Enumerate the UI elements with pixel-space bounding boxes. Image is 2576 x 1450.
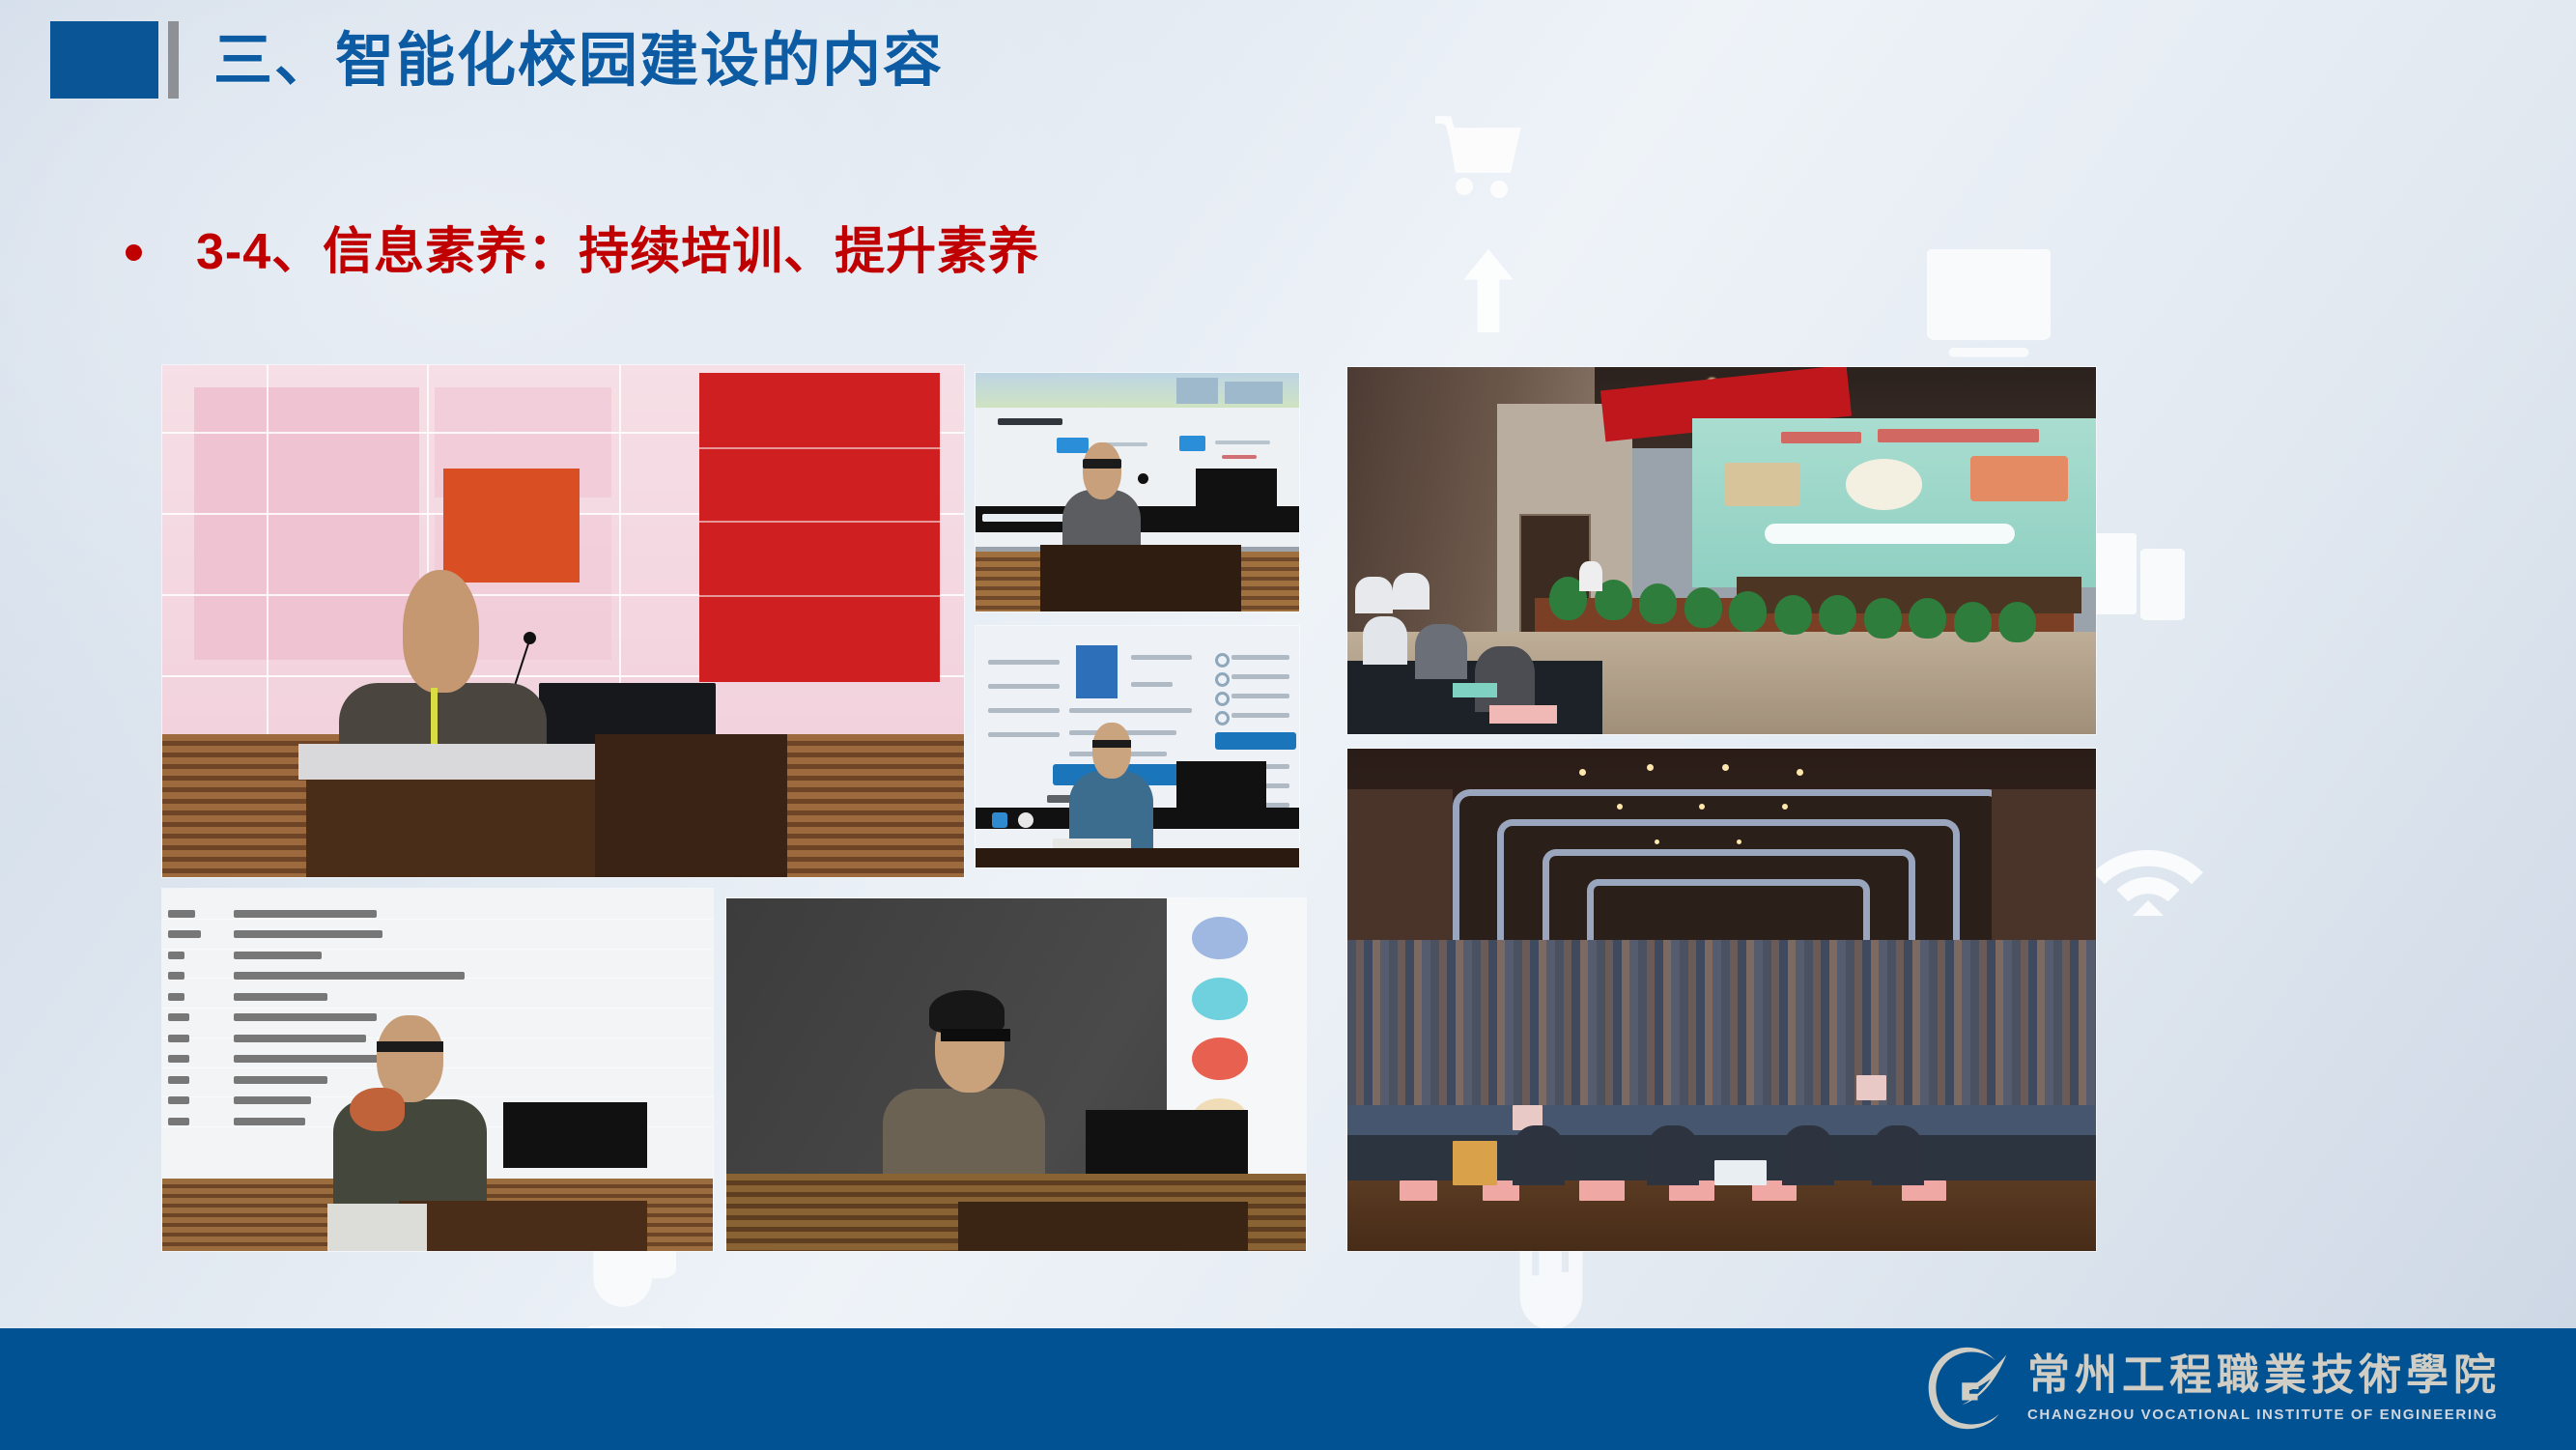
photo-speaker-department-list-screen[interactable] — [162, 889, 713, 1251]
photo-full-auditorium-audience[interactable] — [1347, 749, 2096, 1251]
photo-speaker-hot-services-screen[interactable] — [976, 373, 1299, 611]
slide-footer: 常州工程職業技術學院 CHANGZHOU VOCATIONAL INSTITUT… — [0, 1328, 2576, 1450]
photo-auditorium-green-screen[interactable] — [1347, 367, 2096, 734]
institution-name-cn: 常州工程職業技術學院 — [2027, 1354, 2501, 1397]
title-accent-block — [50, 21, 158, 99]
swoosh-logo-icon — [1921, 1342, 2014, 1435]
photo-speaker-dark-room-laptop[interactable] — [726, 898, 1306, 1251]
photo-speaker-red-led-screen[interactable] — [162, 365, 964, 877]
institution-logo: 常州工程職業技術學院 CHANGZHOU VOCATIONAL INSTITUT… — [1921, 1342, 2501, 1435]
bullet-row: 3-4、信息素养：持续培训、提升素养 — [126, 211, 1039, 283]
photo-speaker-portal-profile-screen[interactable] — [976, 626, 1299, 867]
bullet-label: 3-4、信息素养：持续培训、提升素养 — [196, 211, 1039, 283]
institution-name-en: CHANGZHOU VOCATIONAL INSTITUTE OF ENGINE… — [2027, 1407, 2501, 1423]
slide-header: 三、智能化校园建设的内容 — [0, 17, 944, 102]
wifi-icon — [2086, 831, 2210, 916]
bullet-dot-icon — [126, 244, 142, 261]
monitor-bar-chart-icon — [1927, 249, 2051, 363]
up-arrow-icon — [1460, 249, 1516, 332]
presentation-slide: 三、智能化校园建设的内容 3-4、信息素养：持续培训、提升素养 — [0, 0, 2576, 1450]
shopping-cart-icon — [1432, 114, 1525, 207]
contact-card-icon-right — [2140, 549, 2185, 620]
title-accent-bar — [168, 21, 179, 99]
page-title: 三、智能化校园建设的内容 — [213, 31, 944, 90]
